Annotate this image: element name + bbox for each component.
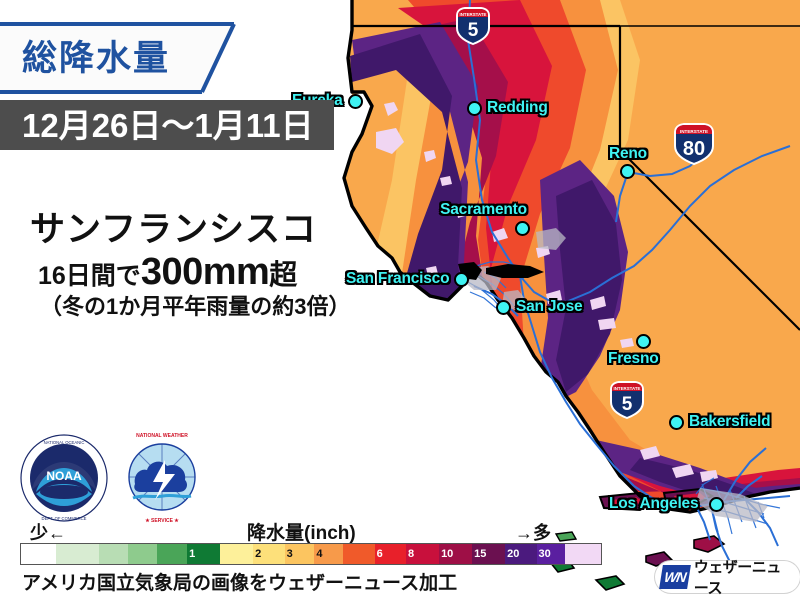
- legend-unit-label: 降水量(inch): [247, 518, 356, 545]
- city-dot-reno: [620, 164, 635, 179]
- legend-cell-13: 10: [439, 544, 472, 564]
- city-label-bakersfield: Bakersfield: [689, 413, 770, 431]
- city-marker-redding[interactable]: Redding: [467, 99, 548, 117]
- city-marker-bakersfield[interactable]: Bakersfield: [669, 413, 770, 431]
- weathernews-brand-text: ウェザーニュース: [694, 556, 788, 598]
- legend-tick-30: 30: [537, 544, 551, 564]
- city-marker-reno[interactable]: Reno: [609, 144, 647, 179]
- legend-cell-6: [220, 544, 253, 564]
- svg-text:NATIONAL WEATHER: NATIONAL WEATHER: [136, 433, 188, 439]
- legend-cell-10: [343, 544, 374, 564]
- interstate-shield-5-north: INTERSTATE 5: [455, 6, 491, 46]
- city-marker-san-jose[interactable]: San Jose: [496, 298, 582, 316]
- legend-cell-7: 2: [253, 544, 284, 564]
- legend-tick-1: 1: [187, 544, 195, 564]
- city-label-los-angeles: Los Angeles: [609, 495, 698, 513]
- page-title: 総降水量: [22, 41, 170, 76]
- legend-tick-4: 4: [314, 544, 322, 564]
- nws-logo: NATIONAL WEATHER ★ SERVICE ★: [113, 428, 211, 526]
- city-dot-redding: [467, 101, 482, 116]
- legend-cell-11: 6: [375, 544, 406, 564]
- city-dot-san-francisco: [454, 272, 469, 287]
- city-dot-sacramento: [515, 221, 530, 236]
- legend-tick-10: 10: [439, 544, 453, 564]
- headline-block: サンフランシスコ 16日間で300mm超 （冬の1か月平年雨量の約3倍）: [30, 212, 390, 319]
- weather-map-infographic: INTERSTATE 5 INTERSTATE 80 INTERSTATE 5 …: [0, 0, 800, 600]
- svg-text:INTERSTATE: INTERSTATE: [460, 12, 487, 17]
- legend-tick-3: 3: [285, 544, 293, 564]
- legend-cell-8: 3: [285, 544, 315, 564]
- city-label-fresno: Fresno: [608, 350, 658, 368]
- legend-less-label: 少←: [30, 519, 66, 545]
- city-label-sacramento: Sacramento: [440, 201, 527, 219]
- svg-text:INTERSTATE: INTERSTATE: [680, 129, 708, 134]
- svg-text:5: 5: [468, 20, 479, 41]
- legend-captions: 少← 降水量(inch) →多: [20, 519, 602, 543]
- weathernews-badge: WN ウェザーニュース: [655, 561, 800, 593]
- interstate-shield-80: INTERSTATE 80: [673, 122, 715, 166]
- city-label-reno: Reno: [609, 145, 647, 163]
- legend-cell-17: [565, 544, 601, 564]
- headline-city: サンフランシスコ: [30, 212, 390, 249]
- weathernews-logo-mark: WN: [659, 565, 691, 589]
- city-label-redding: Redding: [487, 99, 548, 117]
- headline-note: （冬の1か月平年雨量の約3倍）: [40, 295, 390, 319]
- city-dot-bakersfield: [669, 415, 684, 430]
- svg-text:5: 5: [622, 394, 633, 415]
- legend-tick-15: 15: [472, 544, 486, 564]
- svg-text:NOAA: NOAA: [46, 469, 82, 483]
- legend-cell-14: 15: [472, 544, 505, 564]
- svg-text:NATIONAL OCEANIC: NATIONAL OCEANIC: [44, 440, 85, 445]
- legend-tick-2: 2: [253, 544, 261, 564]
- date-range-text: 12月26日〜1月11日: [22, 109, 314, 142]
- legend-tick-8: 8: [406, 544, 414, 564]
- city-dot-eureka: [348, 94, 363, 109]
- headline-amount-suffix: 超: [269, 259, 297, 290]
- legend-cell-12: 8: [406, 544, 439, 564]
- legend-cell-3: [128, 544, 157, 564]
- headline-amount: 16日間で300mm超: [38, 253, 390, 293]
- city-dot-los-angeles: [709, 497, 724, 512]
- city-dot-fresno: [636, 334, 651, 349]
- city-dot-san-jose: [496, 300, 511, 315]
- svg-text:80: 80: [683, 138, 705, 160]
- date-range-banner: 12月26日〜1月11日: [0, 100, 334, 150]
- legend-tick-20: 20: [505, 544, 519, 564]
- legend-cell-5: 1: [187, 544, 220, 564]
- city-marker-los-angeles[interactable]: Los Angeles: [609, 495, 724, 513]
- legend-tick-6: 6: [375, 544, 383, 564]
- legend-cell-0: [21, 544, 56, 564]
- legend-cell-2: [99, 544, 128, 564]
- legend-cell-9: 4: [314, 544, 343, 564]
- source-caption: アメリカ国立気象局の画像をウェザーニュース加工: [22, 568, 457, 595]
- legend-cell-1: [56, 544, 99, 564]
- headline-amount-prefix: 16日間で: [38, 262, 141, 290]
- precipitation-legend: 少← 降水量(inch) →多 12346810152030: [20, 519, 602, 565]
- legend-cell-4: [157, 544, 188, 564]
- title-banner: 総降水量: [0, 22, 232, 94]
- svg-text:INTERSTATE: INTERSTATE: [614, 386, 641, 391]
- city-marker-sacramento[interactable]: Sacramento: [437, 200, 530, 236]
- city-label-san-jose: San Jose: [516, 298, 582, 316]
- legend-cell-16: 30: [537, 544, 565, 564]
- legend-cell-15: 20: [505, 544, 536, 564]
- legend-more-label: →多: [515, 519, 551, 545]
- headline-amount-value: 300mm: [141, 251, 269, 293]
- legend-color-bar: 12346810152030: [20, 543, 602, 565]
- interstate-shield-5-south: INTERSTATE 5: [609, 380, 645, 420]
- city-marker-fresno[interactable]: Fresno: [608, 334, 658, 368]
- noaa-logo: NOAA NATIONAL OCEANIC DEPT. OF COMMERCE: [18, 432, 110, 524]
